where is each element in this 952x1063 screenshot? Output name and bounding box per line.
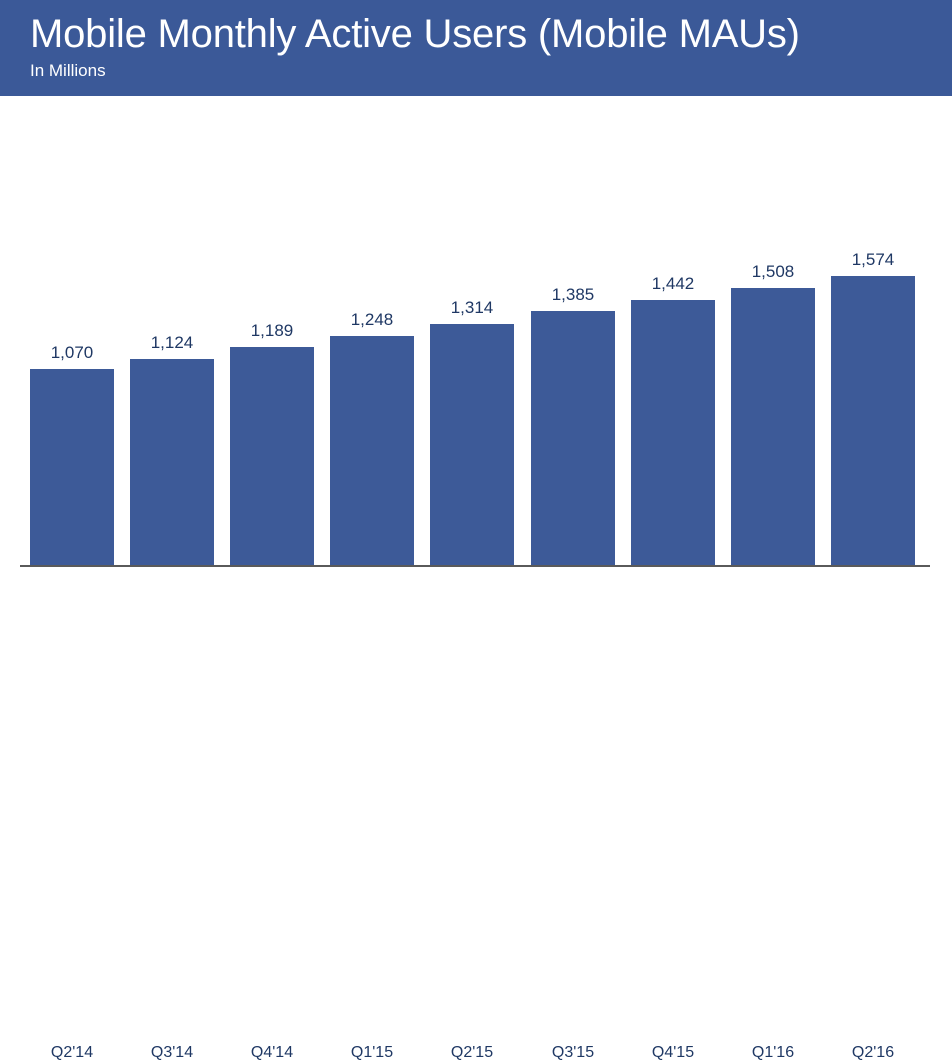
bar[interactable] xyxy=(531,311,615,565)
bar-value-label: 1,442 xyxy=(631,274,715,294)
x-axis-category-label: Q1'15 xyxy=(330,1043,414,1063)
x-axis-category-label: Q2'14 xyxy=(30,1043,114,1063)
bar[interactable] xyxy=(330,336,414,565)
bar-value-label: 1,574 xyxy=(831,250,915,270)
bar[interactable] xyxy=(30,369,114,565)
bar-value-label: 1,385 xyxy=(531,285,615,305)
x-axis-category-label: Q3'14 xyxy=(130,1043,214,1063)
bar-value-label: 1,314 xyxy=(430,298,514,318)
bar[interactable] xyxy=(430,324,514,565)
slide-canvas: Mobile Monthly Active Users (Mobile MAUs… xyxy=(0,0,952,616)
x-axis-category-label: Q2'15 xyxy=(430,1043,514,1063)
bar[interactable] xyxy=(831,276,915,565)
bar[interactable] xyxy=(130,359,214,565)
bar[interactable] xyxy=(731,288,815,565)
x-axis-category-label: Q3'15 xyxy=(531,1043,615,1063)
x-axis-category-label: Q4'15 xyxy=(631,1043,715,1063)
page-title: Mobile Monthly Active Users (Mobile MAUs… xyxy=(30,11,800,57)
bar-value-label: 1,508 xyxy=(731,262,815,282)
bar-value-label: 1,189 xyxy=(230,321,314,341)
bar-value-label: 1,248 xyxy=(330,310,414,330)
x-axis-category-label: Q1'16 xyxy=(731,1043,815,1063)
bar-value-label: 1,070 xyxy=(30,343,114,363)
bar[interactable] xyxy=(230,347,314,565)
title-band: Mobile Monthly Active Users (Mobile MAUs… xyxy=(0,0,952,96)
bar-value-label: 1,124 xyxy=(130,333,214,353)
bar[interactable] xyxy=(631,300,715,565)
page-subtitle: In Millions xyxy=(30,60,106,82)
x-axis-category-label: Q2'16 xyxy=(831,1043,915,1063)
x-axis-category-label: Q4'14 xyxy=(230,1043,314,1063)
bar-chart-plot-area: 1,070Q2'141,124Q3'141,189Q4'141,248Q1'15… xyxy=(0,96,952,616)
x-axis-line xyxy=(20,565,930,567)
